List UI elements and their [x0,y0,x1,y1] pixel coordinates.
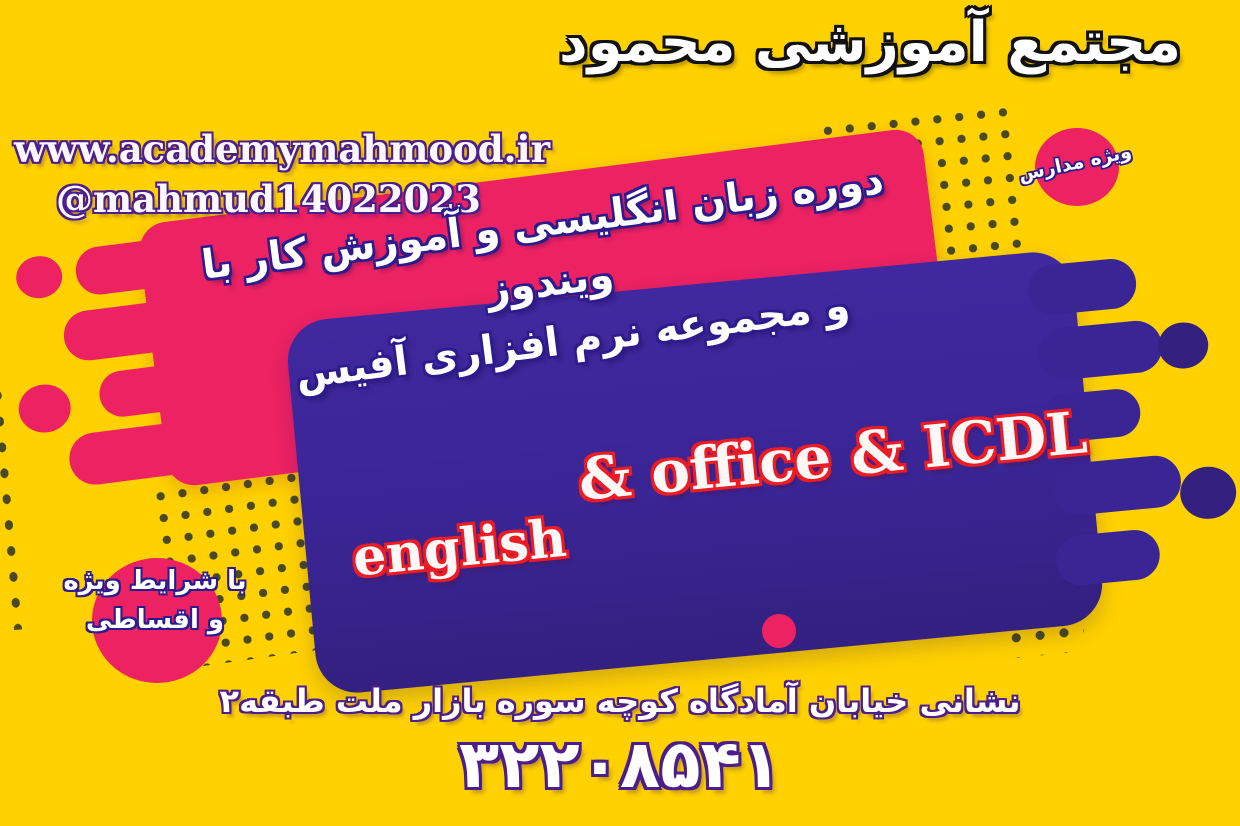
pink-drip-3 [97,361,202,419]
blue-blob-2 [1178,464,1239,521]
decorative-pink-dot [762,614,796,648]
pink-blob-2 [16,381,74,435]
pink-drip-1 [73,236,188,297]
page-title: مجتمع آموزشی محمود [520,10,1220,75]
blue-blob-1 [1156,320,1210,371]
footer-block: نشانی خیابان آمادگاه کوچه سوره بازار ملت… [0,682,1240,803]
blue-drip-1 [1026,257,1138,317]
blue-drip-5 [1054,528,1162,588]
website-url[interactable]: www.academymahmood.ir [14,125,550,175]
badge-terms-line-1: با شرایط ویژه [30,562,280,601]
pink-drip-4 [66,419,207,488]
english-label: english [350,508,569,589]
phone-number[interactable]: ۳۲۲۰۸۵۴۱ [0,726,1240,803]
badge-terms-line-2: و اقساطی [30,601,280,640]
address-text: نشانی خیابان آمادگاه کوچه سوره بازار ملت… [0,682,1240,720]
pink-blob-1 [14,253,65,300]
badge-terms-label: با شرایط ویژه و اقساطی [30,562,280,640]
pink-drip-2 [61,299,186,364]
poster-canvas: مجتمع آموزشی محمود www.academymahmood.ir… [0,0,1240,826]
blue-drip-2 [1036,319,1164,382]
